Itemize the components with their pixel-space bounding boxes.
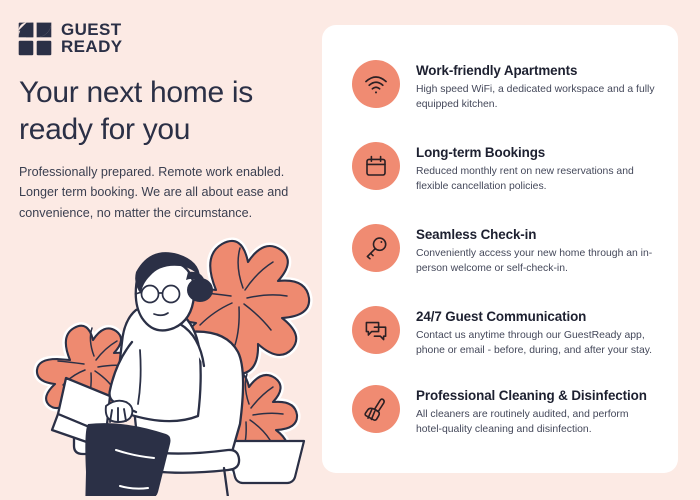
feature-text: Seamless Check-in Conveniently access yo… (416, 224, 658, 277)
brand-name-line-2: READY (61, 39, 123, 56)
guestready-quadrant-logo-icon (18, 22, 52, 56)
key-icon (352, 224, 400, 272)
list-item[interactable]: Work-friendly Apartments High speed WiFi… (352, 60, 658, 113)
feature-description: Contact us anytime through our GuestRead… (416, 329, 658, 359)
feature-description: High speed WiFi, a dedicated workspace a… (416, 83, 658, 113)
chat-bubbles-icon (352, 306, 400, 354)
feature-title: Seamless Check-in (416, 227, 658, 243)
feature-text: Work-friendly Apartments High speed WiFi… (416, 60, 658, 113)
hero-column: GUEST READY Your next home is ready for … (0, 0, 322, 500)
features-panel: Work-friendly Apartments High speed WiFi… (322, 25, 678, 473)
list-item[interactable]: Long-term Bookings Reduced monthly rent … (352, 142, 658, 195)
list-item[interactable]: Seamless Check-in Conveniently access yo… (352, 224, 658, 277)
feature-description: All cleaners are routinely audited, and … (416, 408, 646, 438)
broom-icon (352, 385, 400, 433)
feature-text: 24/7 Guest Communication Contact us anyt… (416, 306, 658, 359)
feature-title: Work-friendly Apartments (416, 63, 658, 79)
wifi-icon (352, 60, 400, 108)
calendar-icon (352, 142, 400, 190)
feature-description: Conveniently access your new home throug… (416, 247, 658, 277)
brand-logo[interactable]: GUEST READY (18, 22, 123, 56)
feature-title: 24/7 Guest Communication (416, 309, 658, 325)
hero-subcopy: Professionally prepared. Remote work ena… (19, 162, 296, 223)
woman-working-on-laptop-in-armchair-with-plants-illustration (28, 228, 318, 496)
feature-title: Long-term Bookings (416, 145, 658, 161)
list-item[interactable]: 24/7 Guest Communication Contact us anyt… (352, 306, 658, 359)
feature-text: Long-term Bookings Reduced monthly rent … (416, 142, 658, 195)
feature-title: Professional Cleaning & Disinfection (416, 388, 647, 404)
list-item[interactable]: Professional Cleaning & Disinfection All… (352, 385, 658, 438)
feature-text: Professional Cleaning & Disinfection All… (416, 385, 647, 438)
page-title: Your next home is ready for you (19, 74, 309, 148)
feature-description: Reduced monthly rent on new reservations… (416, 165, 658, 195)
